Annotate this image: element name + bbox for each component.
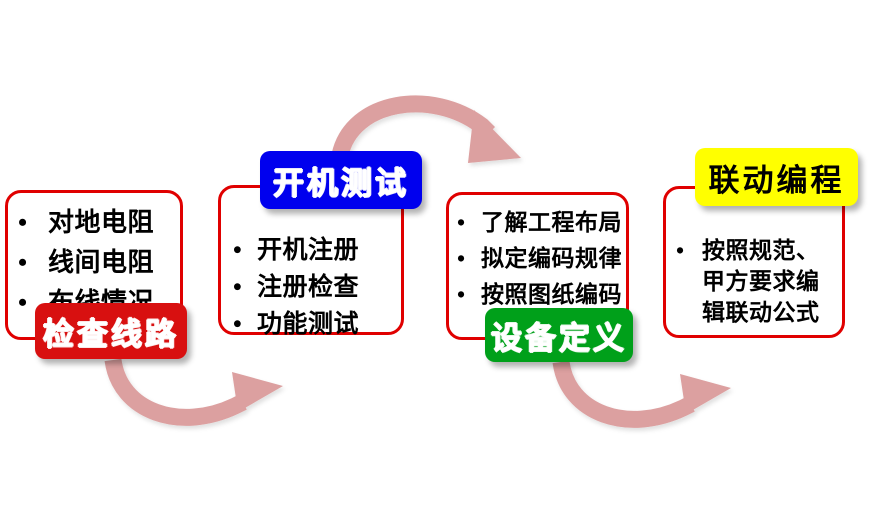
bullet-icon: • — [676, 235, 685, 266]
stage-label-power-on-test[interactable]: 开机测试 — [260, 151, 422, 209]
bullet-icon: • — [18, 203, 28, 243]
bullet-icon: • — [18, 243, 28, 283]
list-item: • 功能测试 — [233, 306, 395, 343]
list-item: • 开机注册 — [233, 232, 395, 269]
bullet-icon: • — [233, 232, 242, 269]
bullet-text: 按照规范、甲方要求编辑联动公式 — [702, 235, 834, 328]
arrow-stage1-to-stage2 — [113, 360, 283, 417]
bullet-text: 开机注册 — [257, 232, 395, 269]
stage-2-bullet-list: • 开机注册 • 注册检查 • 功能测试 — [221, 188, 401, 343]
stage-label-linkage-programming[interactable]: 联动编程 — [695, 148, 858, 206]
bullet-icon: • — [233, 306, 242, 343]
bullet-text: 线间电阻 — [48, 243, 174, 283]
bullet-icon: • — [457, 277, 466, 313]
stage-label-device-definition[interactable]: 设备定义 — [485, 308, 633, 362]
list-item: • 对地电阻 — [18, 203, 174, 243]
stage-4-bullet-list: • 按照规范、甲方要求编辑联动公式 — [666, 189, 842, 328]
bullet-text: 拟定编码规律 — [481, 241, 622, 277]
bullet-icon: • — [457, 241, 466, 277]
bullet-text: 了解工程布局 — [481, 205, 622, 241]
arrow-stage3-to-stage4 — [561, 362, 731, 419]
list-item: • 了解工程布局 — [457, 205, 622, 241]
list-item: • 注册检查 — [233, 269, 395, 306]
stage-panel-4: • 按照规范、甲方要求编辑联动公式 — [663, 186, 845, 338]
stage-label-check-circuit[interactable]: 检查线路 — [35, 303, 187, 359]
list-item: • 按照规范、甲方要求编辑联动公式 — [676, 235, 834, 328]
bullet-text: 注册检查 — [257, 269, 395, 306]
bullet-icon: • — [457, 205, 466, 241]
list-item: • 拟定编码规律 — [457, 241, 622, 277]
bullet-icon: • — [18, 283, 28, 323]
bullet-text: 功能测试 — [257, 306, 395, 343]
stage-3-bullet-list: • 了解工程布局 • 拟定编码规律 • 按照图纸编码 — [449, 195, 626, 313]
bullet-icon: • — [233, 269, 242, 306]
bullet-text: 对地电阻 — [48, 203, 174, 243]
diagram-canvas: • 对地电阻 • 线间电阻 • 布线情况 • 开机注册 • 注册检查 — [0, 0, 870, 520]
list-item: • 线间电阻 — [18, 243, 174, 283]
